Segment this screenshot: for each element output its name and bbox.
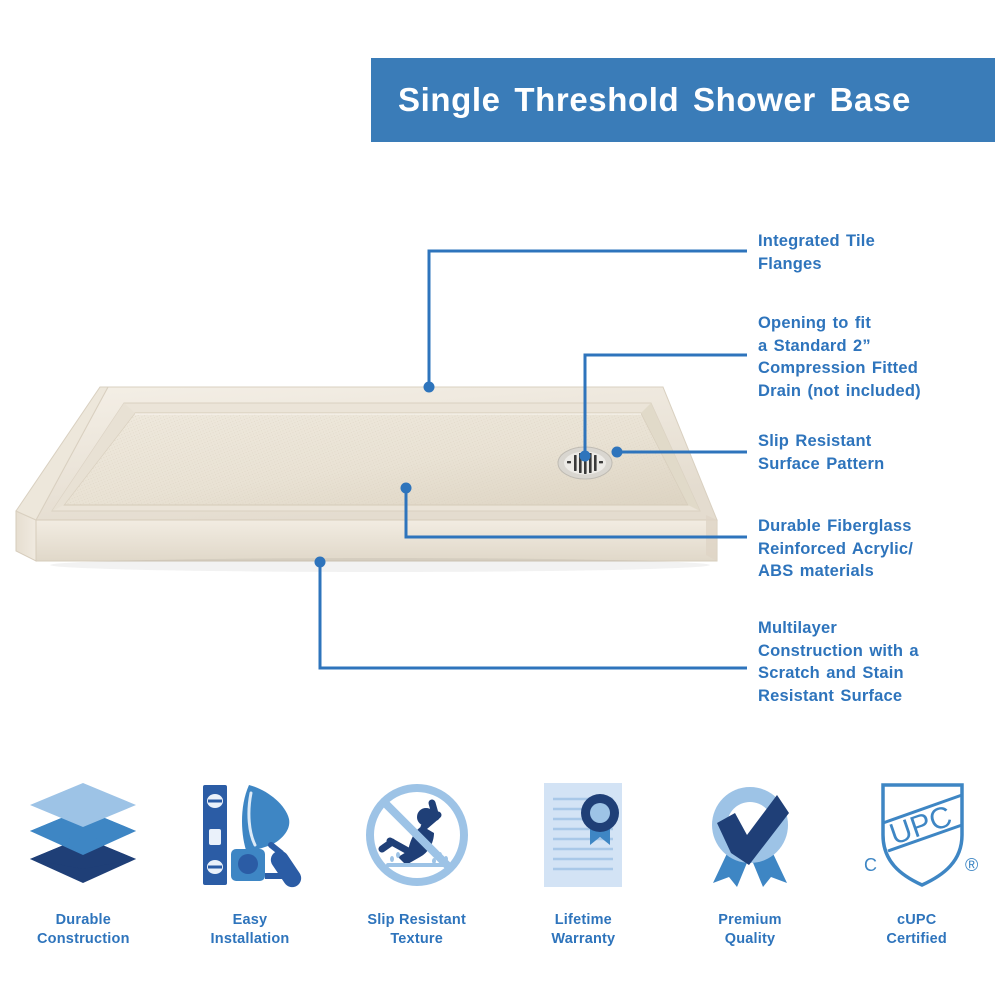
callout-drain-opening: Opening to fit a Standard 2” Compression… [758,312,998,402]
callout-integrated-tile-flanges: Integrated Tile Flanges [758,230,998,275]
callout-multilayer-construction: Multilayer Construction with a Scratch a… [758,617,998,707]
upc-shield-icon: UPC C ® [852,775,982,895]
feature-premium-quality: Premium Quality [667,775,834,949]
feature-label: Easy Installation [211,911,290,949]
callout-slip-resistant-surface: Slip Resistant Surface Pattern [758,430,998,475]
feature-label: Durable Construction [37,911,130,949]
callout-durable-materials: Durable Fiberglass Reinforced Acrylic/ A… [758,515,998,583]
feature-label: cUPC Certified [886,911,947,949]
feature-durable-construction: Durable Construction [0,775,167,949]
feature-badges-row: Durable Construction [0,775,1000,970]
feature-label: Lifetime Warranty [551,911,615,949]
feature-label: Premium Quality [718,911,781,949]
no-slip-icon [358,775,476,895]
check-rosette-icon [691,775,809,895]
drain-grate [558,447,612,479]
feature-cupc-certified: UPC C ® cUPC Certified [833,775,1000,949]
upc-prefix-c: C [864,855,877,875]
product-image [0,365,740,600]
level-trowel-icon [191,775,309,895]
feature-lifetime-warranty: Lifetime Warranty [500,775,667,949]
product-infographic: Single Threshold Shower Base [0,0,1000,1000]
feature-easy-installation: Easy Installation [167,775,334,949]
certificate-icon [524,775,642,895]
feature-slip-resistant: Slip Resistant Texture [333,775,500,949]
registered-mark: ® [965,855,978,875]
page-title: Single Threshold Shower Base [371,81,911,119]
header-banner: Single Threshold Shower Base [371,58,995,142]
feature-label: Slip Resistant Texture [367,911,466,949]
layers-icon [24,775,142,895]
